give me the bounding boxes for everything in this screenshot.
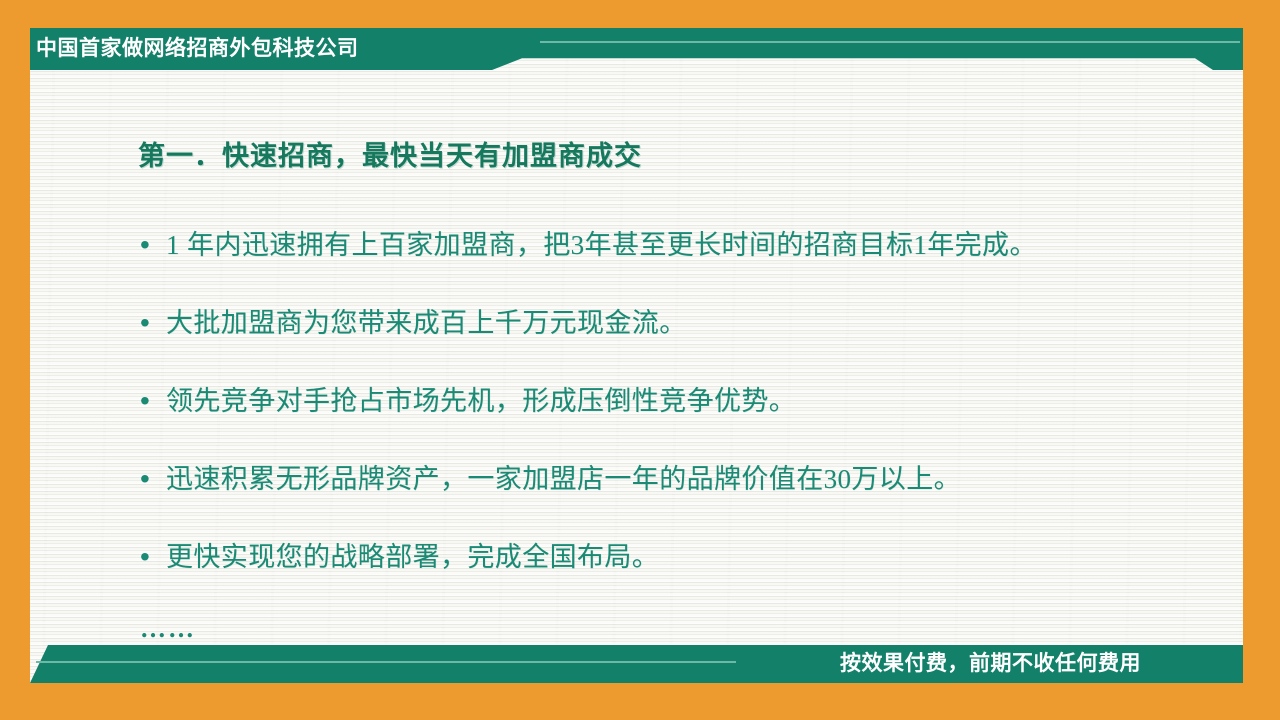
slide-root: 中国首家做网络招商外包科技公司 第一．快速招商，最快当天有加盟商成交 • 1 年… [0, 0, 1280, 720]
footer-tagline: 按效果付费，前期不收任何费用 [840, 648, 1240, 680]
list-item: • 更快实现您的战略部署，完成全国布局。 [140, 538, 1210, 616]
list-item-label: 大批加盟商为您带来成百上千万元现金流。 [166, 304, 687, 342]
bullet-dot-icon: • [140, 382, 166, 420]
list-item: • 领先竞争对手抢占市场先机，形成压倒性竞争优势。 [140, 382, 1210, 460]
bullet-dot-icon: • [140, 538, 166, 576]
page-title: 第一．快速招商，最快当天有加盟商成交 [138, 134, 642, 173]
list-item-label: 领先竞争对手抢占市场先机，形成压倒性竞争优势。 [166, 382, 796, 420]
list-item-label: 1 年内迅速拥有上百家加盟商，把3年甚至更长时间的招商目标1年完成。 [166, 226, 1037, 264]
header-divider-rule [540, 41, 1240, 43]
bullet-list: • 1 年内迅速拥有上百家加盟商，把3年甚至更长时间的招商目标1年完成。 • 大… [140, 226, 1210, 616]
list-item: • 迅速积累无形品牌资产，一家加盟店一年的品牌价值在30万以上。 [140, 460, 1210, 538]
list-item-label: 更快实现您的战略部署，完成全国布局。 [166, 538, 659, 576]
bullet-dot-icon: • [140, 226, 166, 264]
bullet-dot-icon: • [140, 460, 166, 498]
bullet-dot-icon: • [140, 304, 166, 342]
footer-divider-rule [36, 661, 736, 663]
header-title: 中国首家做网络招商外包科技公司 [36, 31, 476, 67]
list-item: • 大批加盟商为您带来成百上千万元现金流。 [140, 304, 1210, 382]
list-item: • 1 年内迅速拥有上百家加盟商，把3年甚至更长时间的招商目标1年完成。 [140, 226, 1210, 304]
continuation-ellipsis: …… [140, 614, 196, 644]
list-item-label: 迅速积累无形品牌资产，一家加盟店一年的品牌价值在30万以上。 [166, 460, 961, 498]
